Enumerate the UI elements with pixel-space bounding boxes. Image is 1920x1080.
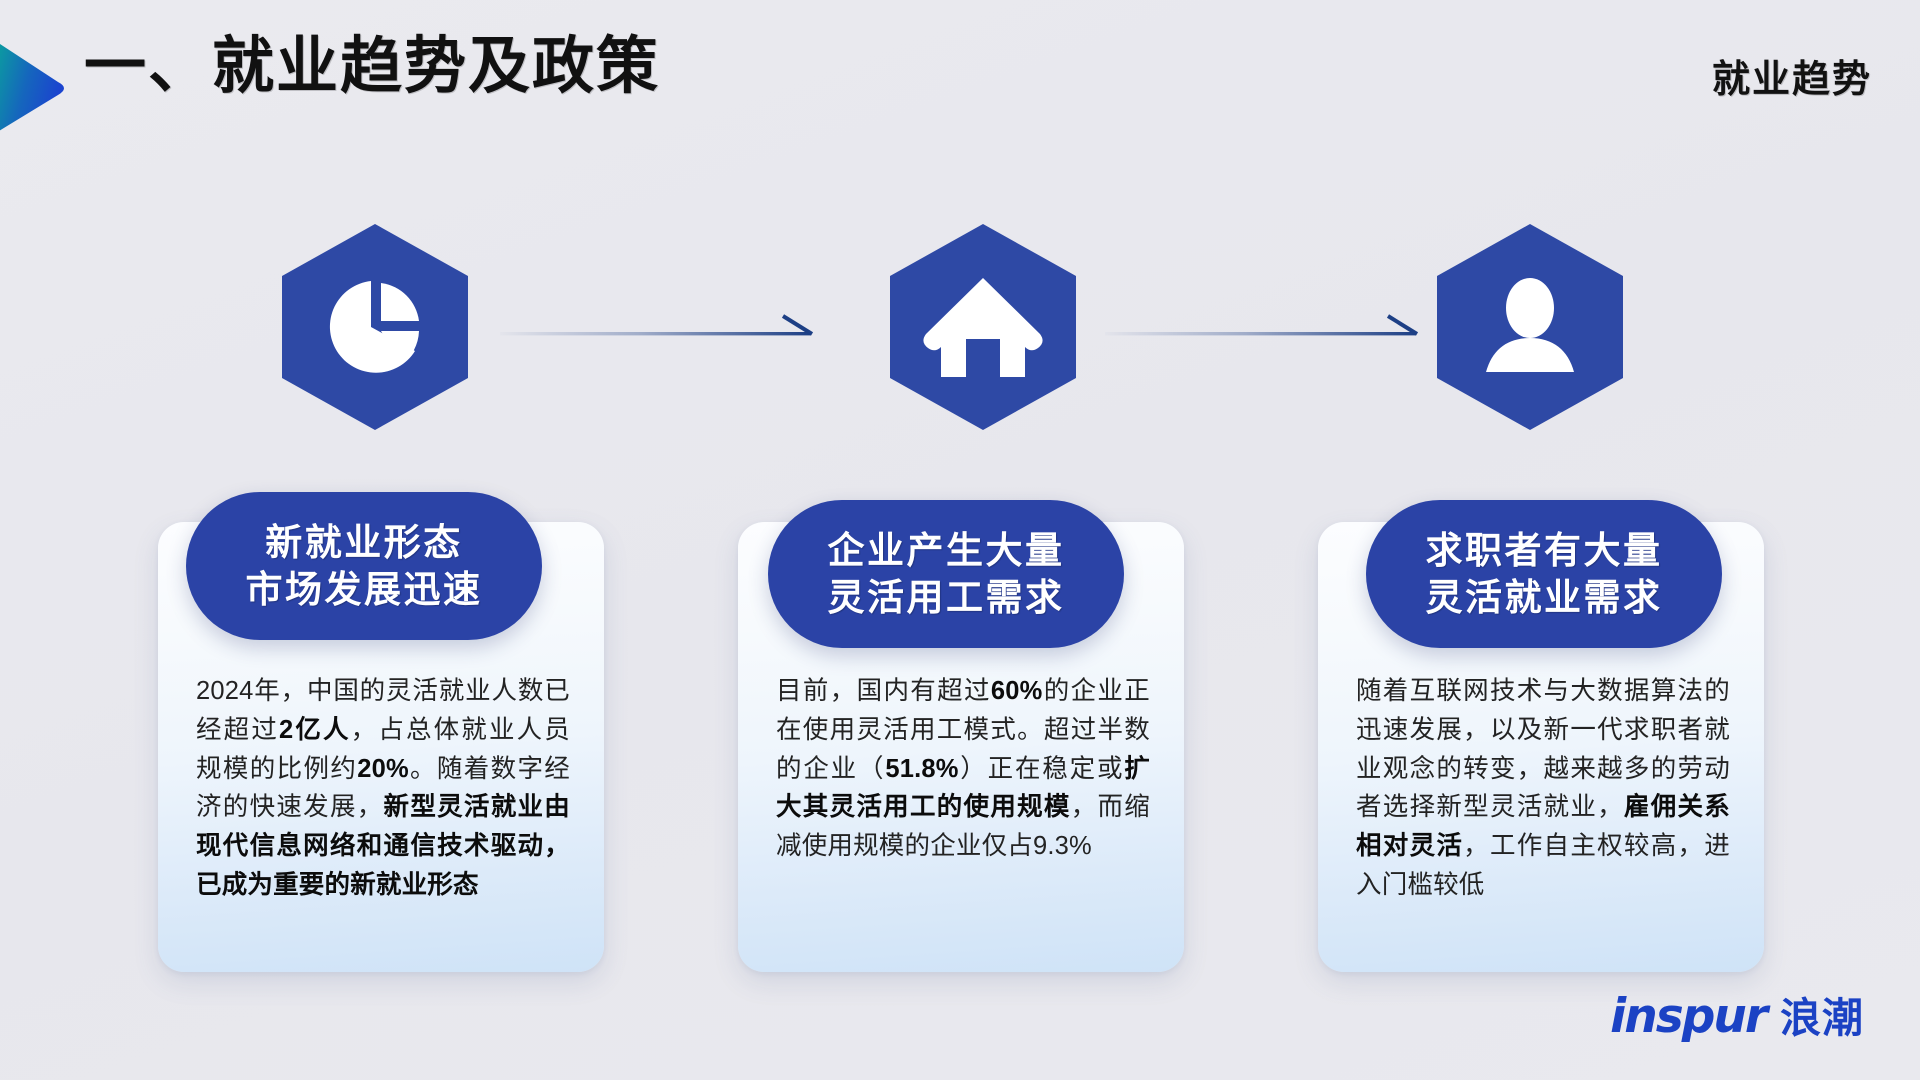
card-pill-2-line2: 灵活用工需求 [828,574,1065,621]
card-pill-3-line2: 灵活就业需求 [1426,574,1663,621]
inspur-logo: inspur 浪潮 [1610,984,1864,1044]
card-body-2: 目前，国内有超过60%的企业正在使用灵活用工模式。超过半数的企业（51.8%）正… [776,672,1150,866]
card-pill-3-line1: 求职者有大量 [1426,527,1663,574]
card-body-1: 2024年，中国的灵活就业人数已经超过2亿人，占总体就业人员规模的比例约20%。… [196,672,570,905]
card-body-3: 随着互联网技术与大数据算法的迅速发展，以及新一代求职者就业观念的转变，越来越多的… [1356,672,1730,905]
flow-arrow-1 [500,300,820,360]
hexagon-badge-2 [888,222,1078,432]
logo-chinese-name: 浪潮 [1780,984,1864,1044]
slide-root: 一、就业趋势及政策 就业趋势 [0,0,1920,1080]
card-pill-3[interactable]: 求职者有大量 灵活就业需求 [1366,500,1722,648]
card-pill-1-line1: 新就业形态 [265,519,463,566]
card-pill-2[interactable]: 企业产生大量 灵活用工需求 [768,500,1124,648]
card-pill-2-line1: 企业产生大量 [828,527,1065,574]
logo-wordmark: inspur [1610,989,1766,1044]
section-label: 就业趋势 [1712,48,1872,103]
flow-arrow-2 [1105,300,1425,360]
header-chevron-icon [0,38,72,136]
page-title: 一、就业趋势及政策 [84,33,660,101]
card-pill-1[interactable]: 新就业形态 市场发展迅速 [186,492,542,640]
hexagon-badge-1 [280,222,470,432]
hexagon-badge-3 [1435,222,1625,432]
card-pill-1-line2: 市场发展迅速 [246,566,483,613]
